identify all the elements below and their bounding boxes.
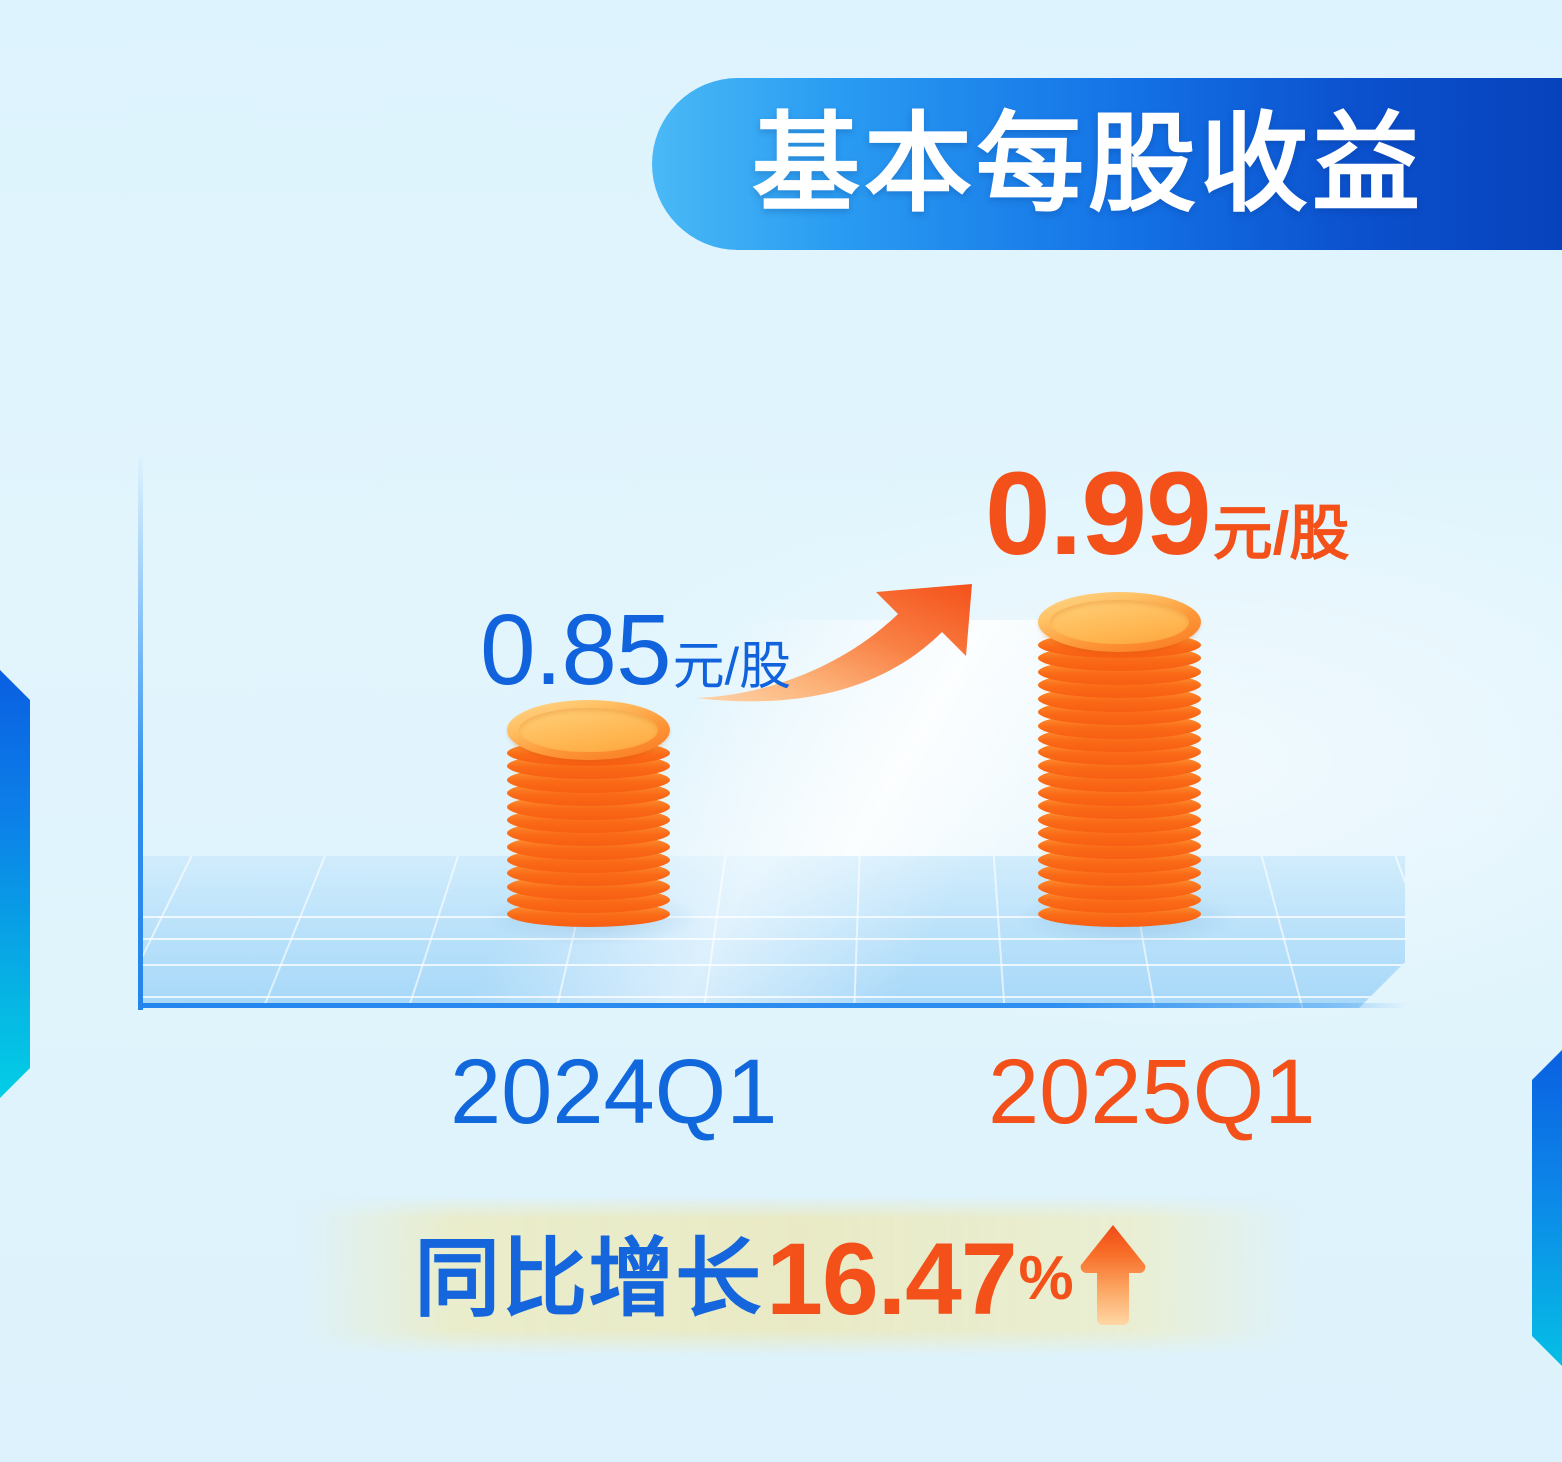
growth-prefix-label: 同比增长 [414, 1236, 762, 1322]
bar-2025q1-coin-stack [1038, 592, 1201, 916]
up-arrow-icon [1078, 1223, 1148, 1327]
value-label-2024q1: 0.85元/股 [480, 600, 791, 700]
coin-stack-top [1038, 592, 1201, 652]
growth-percent-sign: % [1019, 1248, 1074, 1310]
left-edge-tab [0, 648, 30, 1120]
title-banner: 基本每股收益 [652, 78, 1562, 250]
x-axis-line [138, 1003, 1408, 1008]
coin-stack-top [507, 700, 670, 760]
category-label-2024q1: 2024Q1 [450, 1046, 777, 1138]
bar-2024q1-coin-stack [507, 700, 670, 916]
growth-summary: 同比增长 16.47 % [0, 1224, 1562, 1334]
right-edge-tab [1532, 1028, 1562, 1388]
value-label-2025q1: 0.99元/股 [985, 455, 1349, 573]
value-number-2025q1: 0.99 [985, 448, 1211, 580]
y-axis-line [138, 450, 143, 1010]
growth-value: 16.47 [766, 1228, 1016, 1330]
infographic-canvas: 基本每股收益 [0, 0, 1562, 1462]
chart-floor-plane [140, 856, 1405, 1008]
value-unit-2025q1: 元/股 [1213, 500, 1350, 567]
category-label-2025q1: 2025Q1 [988, 1046, 1315, 1138]
page-title: 基本每股收益 [752, 110, 1424, 218]
value-unit-2024q1: 元/股 [673, 638, 791, 696]
value-number-2024q1: 0.85 [480, 594, 671, 706]
